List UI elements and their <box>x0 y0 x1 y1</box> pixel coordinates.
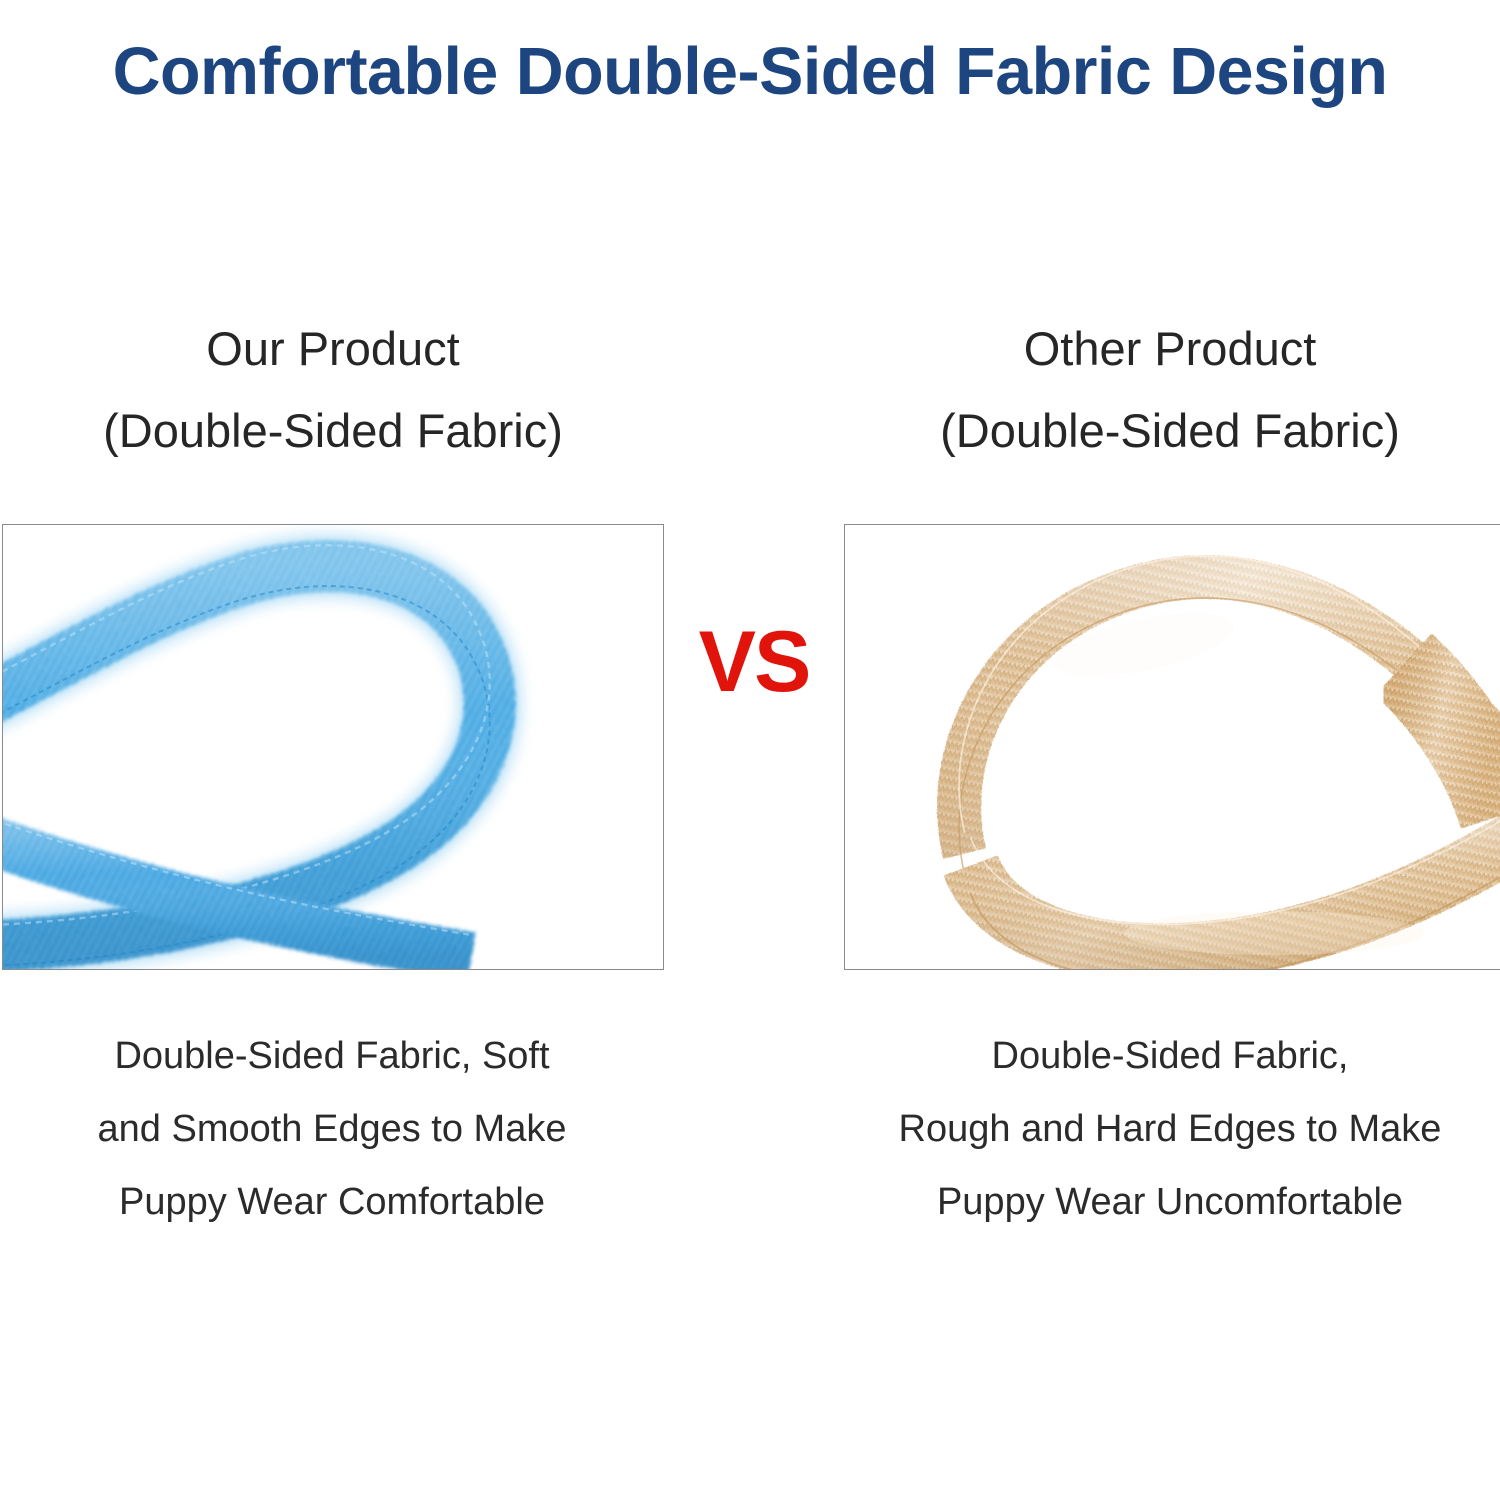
column-heading-line-2: (Double-Sided Fabric) <box>3 390 663 472</box>
column-heading-our-product: Our Product (Double-Sided Fabric) <box>3 308 663 472</box>
caption-line-3: Puppy Wear Comfortable <box>0 1166 664 1239</box>
blue-velcro-strap-image <box>3 525 663 969</box>
column-heading-line-2: (Double-Sided Fabric) <box>840 390 1500 472</box>
caption-line-1: Double-Sided Fabric, <box>838 1020 1500 1093</box>
product-image-panel-other-product <box>844 524 1500 970</box>
caption-line-1: Double-Sided Fabric, Soft <box>0 1020 664 1093</box>
column-heading-line-1: Our Product <box>3 308 663 390</box>
page-title: Comfortable Double-Sided Fabric Design <box>8 38 1493 105</box>
product-image-panel-our-product <box>2 524 664 970</box>
column-heading-line-1: Other Product <box>840 308 1500 390</box>
beige-woven-strap-image <box>845 525 1500 969</box>
caption-line-2: Rough and Hard Edges to Make <box>838 1093 1500 1166</box>
caption-line-3: Puppy Wear Uncomfortable <box>838 1166 1500 1239</box>
column-heading-other-product: Other Product (Double-Sided Fabric) <box>840 308 1500 472</box>
vs-label: VS <box>664 612 844 712</box>
caption-our-product: Double-Sided Fabric, Soft and Smooth Edg… <box>0 1020 664 1239</box>
caption-other-product: Double-Sided Fabric, Rough and Hard Edge… <box>838 1020 1500 1239</box>
caption-line-2: and Smooth Edges to Make <box>0 1093 664 1166</box>
